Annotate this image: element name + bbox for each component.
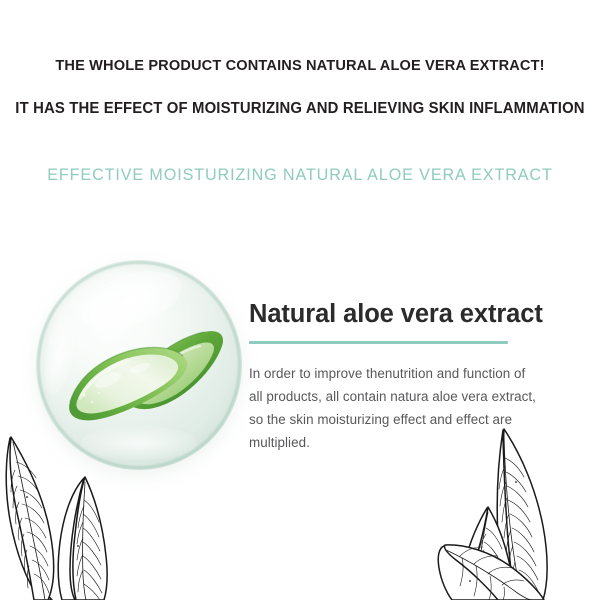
- subheadline: EFFECTIVE MOISTURIZING NATURAL ALOE VERA…: [5, 166, 596, 185]
- leaf-bottom-right-upper: [459, 507, 514, 600]
- headline-primary: THE WHOLE PRODUCT CONTAINS NATURAL ALOE …: [12, 58, 588, 73]
- feature-title: Natural aloe vera extract: [249, 300, 549, 328]
- leaf-bottom-right-lower: [438, 545, 544, 600]
- poster-canvas: THE WHOLE PRODUCT CONTAINS NATURAL ALOE …: [0, 0, 600, 600]
- aloe-slice-front: [69, 347, 187, 420]
- aloe-gel-sphere: [36, 260, 242, 470]
- feature-body-text: In order to improve thenutrition and fun…: [249, 362, 541, 454]
- leaf-bottom-left-inner: [58, 477, 107, 600]
- feature-divider: [249, 341, 508, 344]
- leaf-bottom-right-tall: [497, 429, 547, 600]
- feature-content: Natural aloe vera extract In order to im…: [249, 300, 549, 454]
- headline-block: THE WHOLE PRODUCT CONTAINS NATURAL ALOE …: [0, 58, 600, 117]
- aloe-slices-illustration: [36, 260, 242, 470]
- headline-secondary: IT HAS THE EFFECT OF MOISTURIZING AND RE…: [14, 101, 587, 117]
